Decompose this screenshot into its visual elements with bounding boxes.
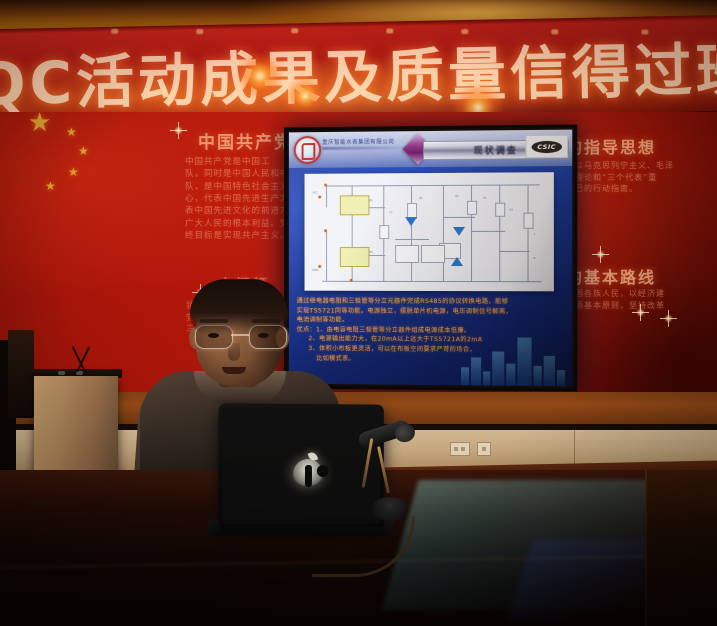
schematic-block-1 <box>340 195 370 215</box>
sparkle-1 <box>174 126 183 135</box>
flag-star-small-3: ★ <box>68 166 79 178</box>
event-banner: QC活动成果及质量信得过班组 <box>0 15 717 125</box>
company-logo-icon <box>294 136 321 164</box>
schematic-block-2 <box>340 247 370 267</box>
presenter-mouth <box>222 367 246 374</box>
mural-heading-left: 中国共产党 <box>198 128 293 153</box>
slide-company-name: 重庆智能水表集团有限公司 <box>322 137 394 146</box>
skyline-watermark <box>457 329 568 386</box>
apple-logo-icon <box>293 452 323 486</box>
side-cabinet <box>34 376 118 481</box>
spotlight-reflection-1 <box>236 52 284 100</box>
circuit-schematic-figure: VCC GND R1 R2 C1 Q1 Q2 D1 D2 A B <box>305 172 554 291</box>
right-side-cabinet <box>645 470 717 626</box>
sparkle-5 <box>596 250 605 259</box>
macbook-laptop[interactable] <box>218 403 383 528</box>
flag-star-small-1: ★ <box>66 126 77 138</box>
mural-heading-right-top: 的指导思想 <box>566 134 656 158</box>
power-outlet-2 <box>477 442 491 456</box>
mural-paragraph-right-top: 党以马克思列宁主义、毛泽 平理论和“三个代表”重 自己的行动指南。 <box>566 160 706 195</box>
spotlight-reflection-2 <box>285 76 325 116</box>
flag-star-small-4: ★ <box>45 180 56 192</box>
sparkle-3 <box>636 308 645 317</box>
slide-company-underline <box>322 146 413 150</box>
power-outlet-1 <box>450 442 470 456</box>
csic-logo: CSIC <box>525 135 568 159</box>
csic-logo-text: CSIC <box>532 140 562 152</box>
presenter-hair <box>190 279 288 335</box>
conference-room-photo: QC活动成果及质量信得过班组 ★ ★ ★ ★ ★ 中国共产党 中国共产党是中国工… <box>0 0 717 626</box>
sparkle-4 <box>664 314 673 323</box>
flag-star-large: ★ <box>28 112 51 136</box>
flag-star-small-2: ★ <box>78 145 89 157</box>
slide-header: 重庆智能水表集团有限公司 现状调查 CSIC <box>289 130 572 168</box>
mural-heading-right-bottom: 的基本路线 <box>566 264 656 288</box>
